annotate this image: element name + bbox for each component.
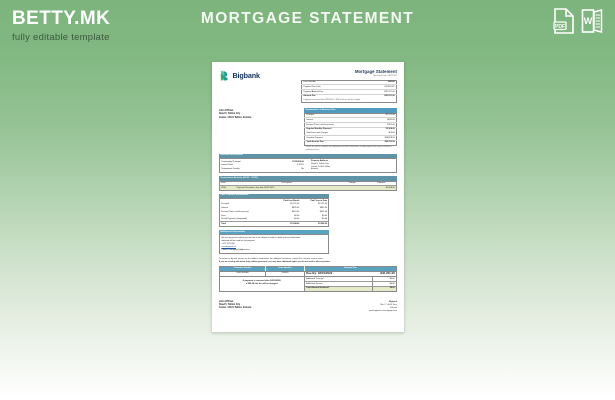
account-summary-table: Loan Number 200000 Payment Due Date 02/0…: [301, 80, 397, 104]
table-row-total: Total $3,308.00 $3,308.00: [220, 222, 329, 227]
coupon-due-row: Due By: 02/01/2022 $42,221.00: [305, 272, 396, 277]
property-address-line3: Estonia: [311, 168, 396, 171]
statement-header: Bigbank Mortgage Statement Statement Dat…: [219, 69, 397, 103]
bank-logo: Bigbank: [219, 69, 260, 81]
coupon-amount-due: $42,221.00: [350, 272, 396, 277]
past-payment-table: Paid Last Month Paid Year to Date Princi…: [219, 198, 329, 227]
statement-date: Statement Date: 01/01/2022: [301, 75, 397, 78]
page-title: MORTGAGE STATEMENT: [0, 10, 615, 28]
transaction-activity-section: Transaction Activity (01/01 - 01/31) Dat…: [219, 176, 397, 191]
late-fee-note: If payment is received after 02/16/2022,…: [302, 99, 397, 103]
table-row: Total Amount Due $42,221.00: [305, 140, 397, 145]
disclaimer-line: If you are serving with active duty mili…: [219, 261, 397, 264]
svg-text:W: W: [584, 16, 593, 26]
total-enclosed-label: Total Amount Enclosed: [305, 286, 372, 290]
additional-information-section: Additional Information We are required t…: [219, 230, 329, 254]
transaction-charges: [338, 186, 366, 191]
word-icon[interactable]: W: [581, 8, 603, 34]
file-format-icons: PDF W: [553, 8, 603, 34]
document-heading: Mortgage Statement Statement Date: 01/01…: [301, 69, 397, 103]
transaction-payment: $3,308.00: [366, 186, 396, 191]
table-row: 01/01 Payment Received - due date 01/01/…: [220, 186, 397, 191]
middle-section: John O'Brian Road 5, Tallinn City Center…: [219, 108, 397, 151]
coupon-stub-note: If payment is received after 02/16/2022,…: [220, 277, 305, 291]
customer-address-line2: Center, 10101 Tallinn, Estonia: [219, 117, 298, 120]
bigbank-logo-icon: [219, 70, 230, 81]
explanation-note: Contact the service customer care depart…: [304, 146, 397, 151]
sender-address-block: John O'Brian Road 5, Tallinn City Center…: [219, 301, 251, 313]
explanation-label: Total Amount Due: [305, 140, 369, 145]
breakdown-label: Total: [220, 222, 275, 227]
account-info-label: Prepayment Penalty: [220, 168, 272, 172]
total-enclosed-value: $0.00: [372, 286, 396, 290]
contact-email: Contact: mortgage@bigbank.eu: [221, 249, 327, 252]
table-row-total: Total Amount Enclosed $0.00: [305, 286, 396, 290]
breakdown-month: $3,308.00: [274, 222, 300, 227]
document-title: Mortgage Statement: [301, 69, 397, 75]
account-information-left: Outstanding Principal $155,855.00 Intere…: [220, 160, 305, 171]
statement-footer: John O'Brian Road 5, Tallinn City Center…: [219, 301, 397, 313]
pdf-icon[interactable]: PDF: [553, 8, 575, 34]
disclaimer-block: To contact us by mail, please use the ad…: [219, 258, 397, 264]
customer-address-block: John O'Brian Road 5, Tallinn City Center…: [219, 108, 298, 151]
svg-text:PDF: PDF: [555, 24, 565, 30]
coupon-stub-row: If payment is received after 02/16/2022,…: [220, 277, 397, 291]
due-by-label: Due By:: [306, 271, 317, 275]
sender-address-line2: Center, 10101 Tallinn, Estonia: [219, 307, 251, 310]
account-information-table: Outstanding Principal $155,855.00 Intere…: [220, 160, 305, 171]
statement-page: Bigbank Mortgage Statement Statement Dat…: [212, 62, 404, 332]
property-address-block: Property Address Road 5, Tallinn City Ce…: [309, 160, 396, 171]
promo-subtitle: fully editable template: [12, 32, 110, 43]
transaction-date: 01/01: [220, 186, 236, 191]
stub-line-2: a $55.00 late fee will be charged.: [222, 283, 302, 286]
explanation-section: Explanation of Amount Due Principal $2,1…: [304, 108, 397, 151]
table-row: Prepayment Penalty No: [220, 168, 305, 172]
bank-name: Bigbank: [233, 71, 260, 81]
account-information-section: Account Information Outstanding Principa…: [219, 154, 397, 174]
transaction-description: Payment Received - due date 01/01/2022: [235, 186, 338, 191]
recipient-website: www.bigbank.eu/mortgage-loan: [369, 310, 397, 313]
payment-coupon: Customer Number Loan Number Amount Due 1…: [219, 266, 397, 292]
breakdown-ytd: $3,308.00: [301, 222, 329, 227]
past-payment-section: Past Payment Breakdown Paid Last Month P…: [219, 194, 329, 228]
table-row-note: If payment is received after 02/16/2022,…: [302, 99, 397, 103]
due-by-date: 02/01/2022: [318, 271, 332, 275]
recipient-address-block: Bigbank Riia 2, 51004 Tartu Estonia www.…: [369, 301, 397, 313]
explanation-value: $42,221.00: [369, 140, 397, 145]
account-info-value: No: [272, 168, 305, 172]
additional-information-box: We are required to inform you that this …: [219, 234, 329, 253]
explanation-table: Principal $2,121.00 Interest $835.00 Esc…: [304, 113, 397, 146]
transaction-table: Date Description Charges Payment 01/01 P…: [219, 181, 397, 191]
